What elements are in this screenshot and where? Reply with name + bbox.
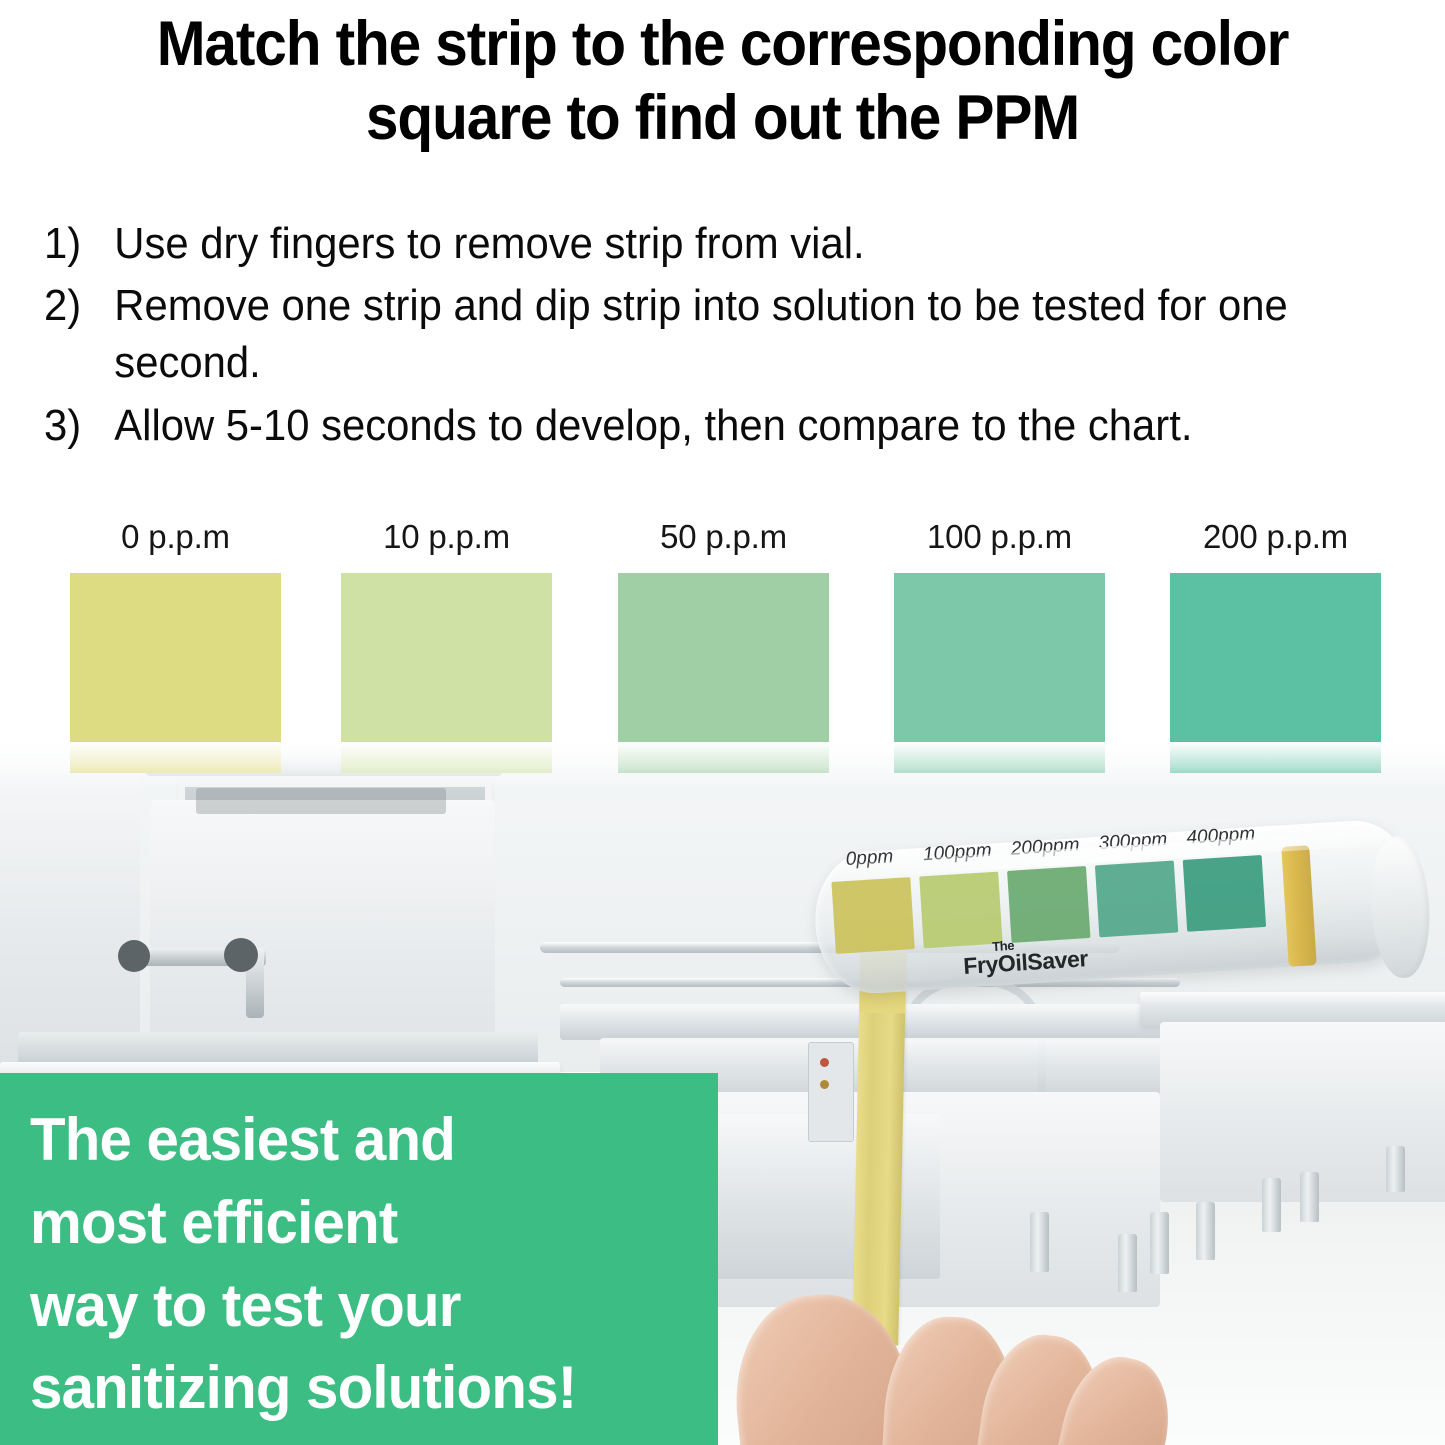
list-item: 1) Use dry fingers to remove strip from …: [44, 215, 1355, 272]
page-title-line-2: square to find out the PPM: [51, 84, 1395, 152]
chart-column: 200 p.p.m: [1170, 520, 1381, 773]
brand-logo: The FryOilSaver: [962, 934, 1089, 979]
infographic-page: Match the strip to the corresponding col…: [0, 0, 1445, 1445]
promo-banner-line-2: most efficient: [30, 1182, 678, 1265]
control-indicator-light: [820, 1058, 829, 1067]
equipment-leg: [1196, 1202, 1215, 1260]
chart-ppm-label: 100 p.p.m: [894, 520, 1105, 553]
vial-color-swatch: [919, 872, 1002, 949]
vial-color-swatch: [1095, 861, 1178, 938]
chart-column: 100 p.p.m: [894, 520, 1105, 773]
list-item-text: Use dry fingers to remove strip from via…: [114, 215, 1355, 272]
photo-top-fade: [0, 742, 1445, 788]
vial-color-swatch: [831, 877, 914, 954]
equipment-leg: [1150, 1212, 1169, 1274]
list-item: 2) Remove one strip and dip strip into s…: [44, 277, 1355, 391]
vial-color-swatch: [1007, 866, 1090, 943]
faucet-knob: [118, 940, 150, 972]
machine-vent: [196, 788, 446, 814]
instruction-list: 1) Use dry fingers to remove strip from …: [44, 215, 1355, 459]
page-title-line-1: Match the strip to the corresponding col…: [51, 10, 1395, 78]
equipment-leg: [1300, 1172, 1319, 1222]
chart-ppm-label: 0 p.p.m: [70, 520, 281, 553]
chart-column: 10 p.p.m: [341, 520, 552, 773]
list-item: 3) Allow 5-10 seconds to develop, then c…: [44, 397, 1355, 454]
equipment-control-panel[interactable]: [808, 1042, 854, 1142]
vial-color-swatch: [1183, 855, 1266, 932]
control-indicator-light: [820, 1080, 829, 1089]
list-item-number: 2): [44, 277, 114, 334]
hand: [735, 1270, 1155, 1445]
promo-banner-line-1: The easiest and: [30, 1099, 678, 1182]
list-item-text: Allow 5-10 seconds to develop, then comp…: [114, 397, 1355, 454]
equipment-leg: [1030, 1212, 1049, 1272]
oil-drop-icon: O: [997, 952, 1016, 977]
chart-column: 0 p.p.m: [70, 520, 281, 773]
list-item-number: 1): [44, 215, 114, 272]
brand-logo-name-post: ilSaver: [1015, 945, 1089, 976]
chart-ppm-label: 200 p.p.m: [1170, 520, 1381, 553]
chart-ppm-label: 10 p.p.m: [341, 520, 552, 553]
promo-banner: The easiest and most efficient way to te…: [0, 1073, 718, 1445]
test-strip-vial: 0ppm 100ppm 200ppm 300ppm 400ppm The Fry…: [815, 820, 1440, 1000]
page-title: Match the strip to the corresponding col…: [51, 10, 1395, 152]
chart-column: 50 p.p.m: [618, 520, 829, 773]
list-item-text: Remove one strip and dip strip into solu…: [114, 277, 1355, 391]
promo-banner-line-3: way to test your: [30, 1265, 678, 1348]
faucet-knob: [224, 938, 258, 972]
list-item-number: 3): [44, 397, 114, 454]
chart-ppm-label: 50 p.p.m: [618, 520, 829, 553]
equipment-leg: [1386, 1146, 1405, 1192]
promo-banner-line-4: sanitizing solutions!: [30, 1347, 678, 1430]
equipment-leg: [1262, 1178, 1281, 1232]
brand-logo-name-pre: Fry: [963, 951, 999, 979]
